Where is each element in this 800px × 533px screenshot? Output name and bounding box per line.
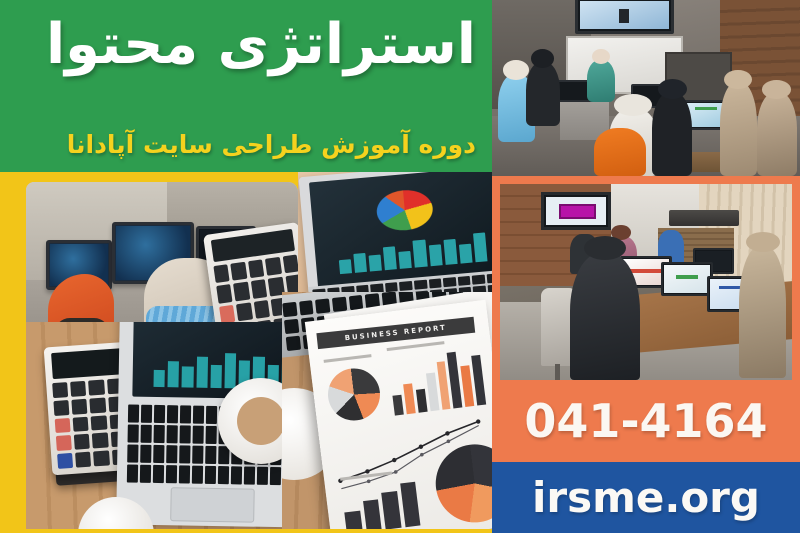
bar-chart-icon xyxy=(337,228,488,274)
air-conditioner xyxy=(669,210,739,226)
student-figure xyxy=(526,62,560,126)
green-banner: استراتژی محتوا دوره آموزش طراحی سایت آپا… xyxy=(0,0,492,172)
phone-number[interactable]: 041-4164 xyxy=(524,394,767,448)
report-title: BUSINESS REPORT xyxy=(316,317,475,349)
yellow-left-strip xyxy=(0,172,26,533)
laptop-trackpad xyxy=(170,487,255,522)
projector-screen-icon xyxy=(575,0,674,34)
student-figure xyxy=(720,82,757,176)
page-title: استراتژی محتوا xyxy=(14,14,476,77)
poster-canvas: استراتژی محتوا دوره آموزش طراحی سایت آپا… xyxy=(0,0,800,533)
photo-business-report: BUSINESS REPORT xyxy=(282,292,492,533)
bar-chart-icon xyxy=(388,345,487,416)
photo-classroom xyxy=(492,0,800,176)
website-url[interactable]: irsme.org xyxy=(532,473,760,522)
page-subtitle: دوره آموزش طراحی سایت آپادانا xyxy=(14,130,476,160)
phone-band[interactable]: 041-4164 xyxy=(492,380,800,462)
student-figure xyxy=(570,252,640,380)
wall-tv-icon xyxy=(541,192,611,230)
student-figure xyxy=(739,246,786,378)
pie-chart-icon xyxy=(375,188,434,233)
report-page-front: BUSINESS REPORT xyxy=(305,300,492,533)
monitor-icon xyxy=(661,262,714,296)
yellow-bottom-strip xyxy=(0,529,492,533)
pie-chart-icon xyxy=(325,366,383,424)
photo-desk-calculator-laptop xyxy=(26,322,282,533)
bar-chart-icon xyxy=(341,478,420,533)
photo-computer-lab xyxy=(500,184,792,380)
student-figure xyxy=(652,92,692,176)
right-column: 041-4164 irsme.org xyxy=(492,0,800,533)
student-figure xyxy=(757,92,797,176)
website-band[interactable]: irsme.org xyxy=(492,462,800,533)
photo-collage: BUSINESS REPORT xyxy=(0,172,492,533)
left-column: استراتژی محتوا دوره آموزش طراحی سایت آپا… xyxy=(0,0,492,533)
report-label xyxy=(324,354,372,363)
instructor-figure xyxy=(587,60,615,102)
student-figure xyxy=(594,128,646,176)
